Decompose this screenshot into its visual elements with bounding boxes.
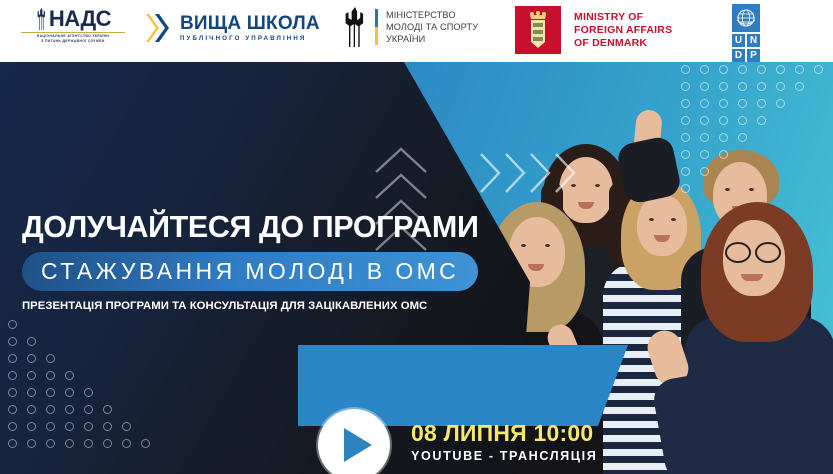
broadcast-texts: 08 ЛИПНЯ 10:00 YOUTUBE - ТРАНСЛЯЦІЯ [411,420,597,463]
vsh-text-block: ВИЩА ШКОЛА ПУБЛІЧНОГО УПРАВЛІННЯ [180,14,320,43]
undp-letter-grid: U N D P [731,33,761,63]
person-6-eye-left [521,244,526,247]
dot-row [8,388,150,397]
msmu-line-3: УКРАЇНИ [386,33,478,45]
msmu-accent-bar [375,9,378,45]
undp-letter-p: P [746,48,761,63]
dot-row [8,371,150,380]
dot-row [8,439,150,448]
undp-letter-d: D [731,48,746,63]
undp-letter-n: N [746,33,761,48]
person-3-eye-left [649,218,654,221]
msmu-text-block: МІНІСТЕРСТВО МОЛОДІ ТА СПОРТУ УКРАЇНИ [386,9,478,45]
person-3-eye-right [671,218,676,221]
dot-row [681,150,823,159]
dot-triangle-icon [8,320,150,456]
dot-grid-icon [681,65,823,201]
denmark-text-block: MINISTRY OF FOREIGN AFFAIRS OF DENMARK [574,11,672,50]
play-triangle [344,428,372,462]
denmark-crown-shield-icon [525,11,551,49]
dot-row [8,405,150,414]
nads-wordmark-row: НАДС [35,8,111,30]
dot-row [681,184,823,193]
event-poster: ДОЛУЧАЙТЕСЯ ДО ПРОГРАМИ СТАЖУВАННЯ МОЛОД… [0,62,833,474]
chevron-mark-icon [146,12,174,44]
logo-undp: U N D P [731,3,761,63]
dot-row [8,337,150,346]
undp-row-bottom: D P [731,48,761,63]
denmark-line-2: FOREIGN AFFAIRS [574,24,672,37]
broadcast-date: 08 ЛИПНЯ 10:00 [411,420,597,446]
dot-row [8,320,150,329]
nads-word: НАДС [49,8,111,30]
play-icon[interactable] [318,409,390,474]
poster-title-pill: СТАЖУВАННЯ МОЛОДІ В ОМС [22,252,478,291]
dot-row [681,65,823,74]
logo-nads: НАДС НАЦІОНАЛЬНЕ АГЕНТСТВО УКРАЇНИ З ПИТ… [18,8,128,44]
ukraine-trident-icon [340,7,370,47]
denmark-crest-icon [515,6,561,54]
person-5-glasses-right [755,242,781,263]
undp-row-top: U N [731,33,761,48]
nads-divider [21,32,125,33]
denmark-line-3: OF DENMARK [574,37,672,50]
person-5-smile [741,274,763,281]
person-3-head [637,194,687,256]
vsh-word: ВИЩА ШКОЛА [180,14,320,34]
vsh-subtitle: ПУБЛІЧНОГО УПРАВЛІННЯ [180,35,320,43]
poster-title-pill-text: СТАЖУВАННЯ МОЛОДІ В ОМС [41,258,459,284]
un-emblem-icon [735,7,757,29]
dot-row [8,422,150,431]
poster-title-main: ДОЛУЧАЙТЕСЯ ДО ПРОГРАМИ [22,209,492,245]
person-6-eye-right [545,244,550,247]
undp-letter-u: U [731,33,746,48]
nads-subtitle-line2: З ПИТАНЬ ДЕРЖАВНОЇ СЛУЖБИ [18,39,128,44]
dot-row [681,99,823,108]
person-5-sleeve [651,367,756,474]
dot-row [8,354,150,363]
partner-logo-bar: НАДС НАЦІОНАЛЬНЕ АГЕНТСТВО УКРАЇНИ З ПИТ… [0,0,833,62]
broadcast-stream: YOUTUBE - ТРАНСЛЯЦІЯ [411,449,597,463]
msmu-line-1: МІНІСТЕРСТВО [386,9,478,21]
denmark-line-1: MINISTRY OF [574,11,672,24]
dot-row [681,133,823,142]
logo-vyshcha-shkola: ВИЩА ШКОЛА ПУБЛІЧНОГО УПРАВЛІННЯ [146,12,320,44]
un-globe-icon [731,3,761,33]
logo-denmark-mfa: MINISTRY OF FOREIGN AFFAIRS OF DENMARK [515,6,672,54]
msmu-line-2: МОЛОДІ ТА СПОРТУ [386,21,478,33]
dot-row [681,82,823,91]
person-1-eye-right [595,184,600,187]
ukraine-trident-icon [35,8,48,30]
poster-headline: ДОЛУЧАЙТЕСЯ ДО ПРОГРАМИ СТАЖУВАННЯ МОЛОД… [22,209,492,312]
logo-ministry-youth-sports: МІНІСТЕРСТВО МОЛОДІ ТА СПОРТУ УКРАЇНИ [340,7,478,47]
dot-row [681,167,823,176]
dot-row [681,116,823,125]
chevron-right-icon [478,150,584,196]
person-5-glasses-left [725,242,751,263]
poster-subtitle: ПРЕЗЕНТАЦІЯ ПРОГРАМИ ТА КОНСУЛЬТАЦІЯ ДЛЯ… [22,300,492,312]
